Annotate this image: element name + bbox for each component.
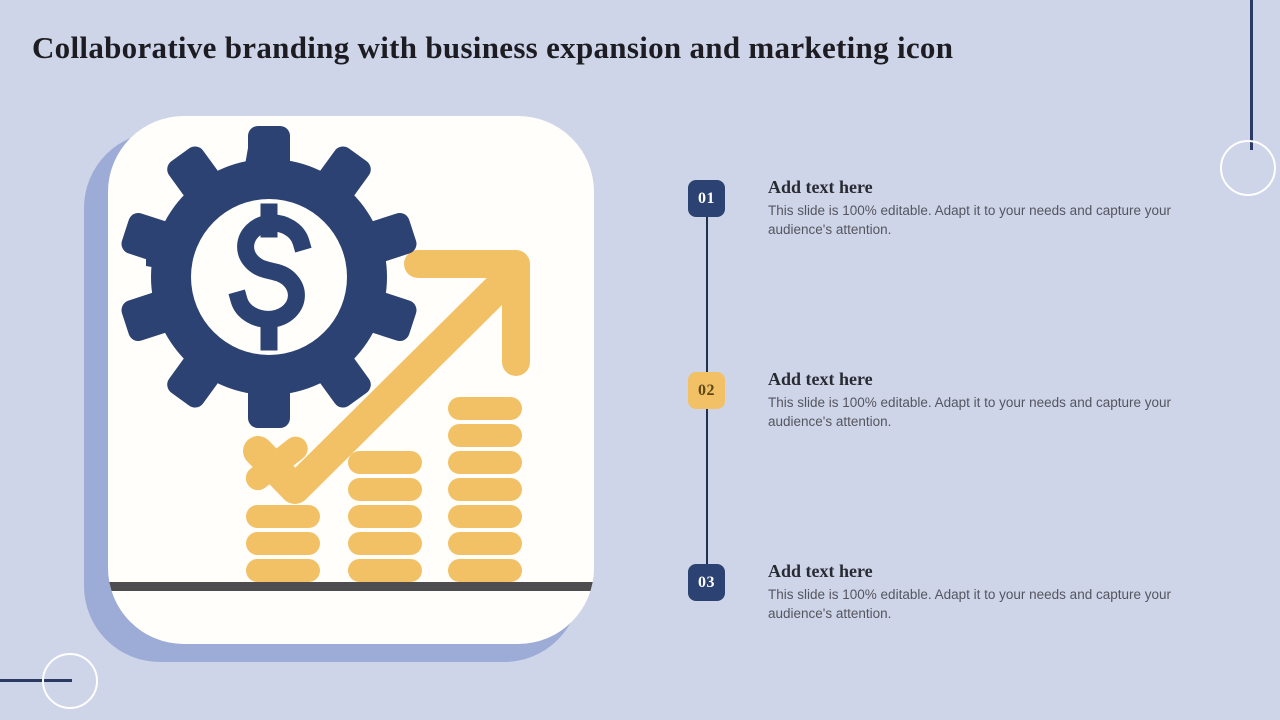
step-heading-01: Add text here bbox=[768, 176, 1216, 198]
illustration-card bbox=[108, 116, 594, 644]
step-number-badge-03: 03 bbox=[688, 564, 725, 601]
step-body-01: Add text here This slide is 100% editabl… bbox=[768, 176, 1216, 239]
top-right-line-decoration bbox=[1250, 0, 1253, 150]
coin-stack-1 bbox=[246, 505, 320, 582]
step-heading-02: Add text here bbox=[768, 368, 1216, 390]
ground-bar bbox=[108, 582, 594, 591]
step-body-02: Add text here This slide is 100% editabl… bbox=[768, 368, 1216, 431]
step-item-03[interactable]: 03 Add text here This slide is 100% edit… bbox=[688, 552, 1248, 642]
step-heading-03: Add text here bbox=[768, 560, 1216, 582]
slide-canvas: Collaborative branding with business exp… bbox=[0, 0, 1280, 720]
step-description-01: This slide is 100% editable. Adapt it to… bbox=[768, 201, 1216, 239]
page-title: Collaborative branding with business exp… bbox=[32, 28, 1162, 68]
steps-list: 01 Add text here This slide is 100% edit… bbox=[688, 160, 1248, 640]
coin-stack-2 bbox=[348, 451, 422, 582]
bottom-left-circle-decoration bbox=[42, 653, 98, 709]
gear-dollar-icon bbox=[119, 126, 419, 428]
step-description-02: This slide is 100% editable. Adapt it to… bbox=[768, 393, 1216, 431]
step-number-badge-02: 02 bbox=[688, 372, 725, 409]
step-item-01[interactable]: 01 Add text here This slide is 100% edit… bbox=[688, 168, 1248, 258]
step-description-03: This slide is 100% editable. Adapt it to… bbox=[768, 585, 1216, 623]
step-body-03: Add text here This slide is 100% editabl… bbox=[768, 560, 1216, 623]
business-expansion-illustration bbox=[108, 116, 594, 644]
coin-stack-3 bbox=[448, 397, 522, 582]
step-number-badge-01: 01 bbox=[688, 180, 725, 217]
step-item-02[interactable]: 02 Add text here This slide is 100% edit… bbox=[688, 360, 1248, 450]
